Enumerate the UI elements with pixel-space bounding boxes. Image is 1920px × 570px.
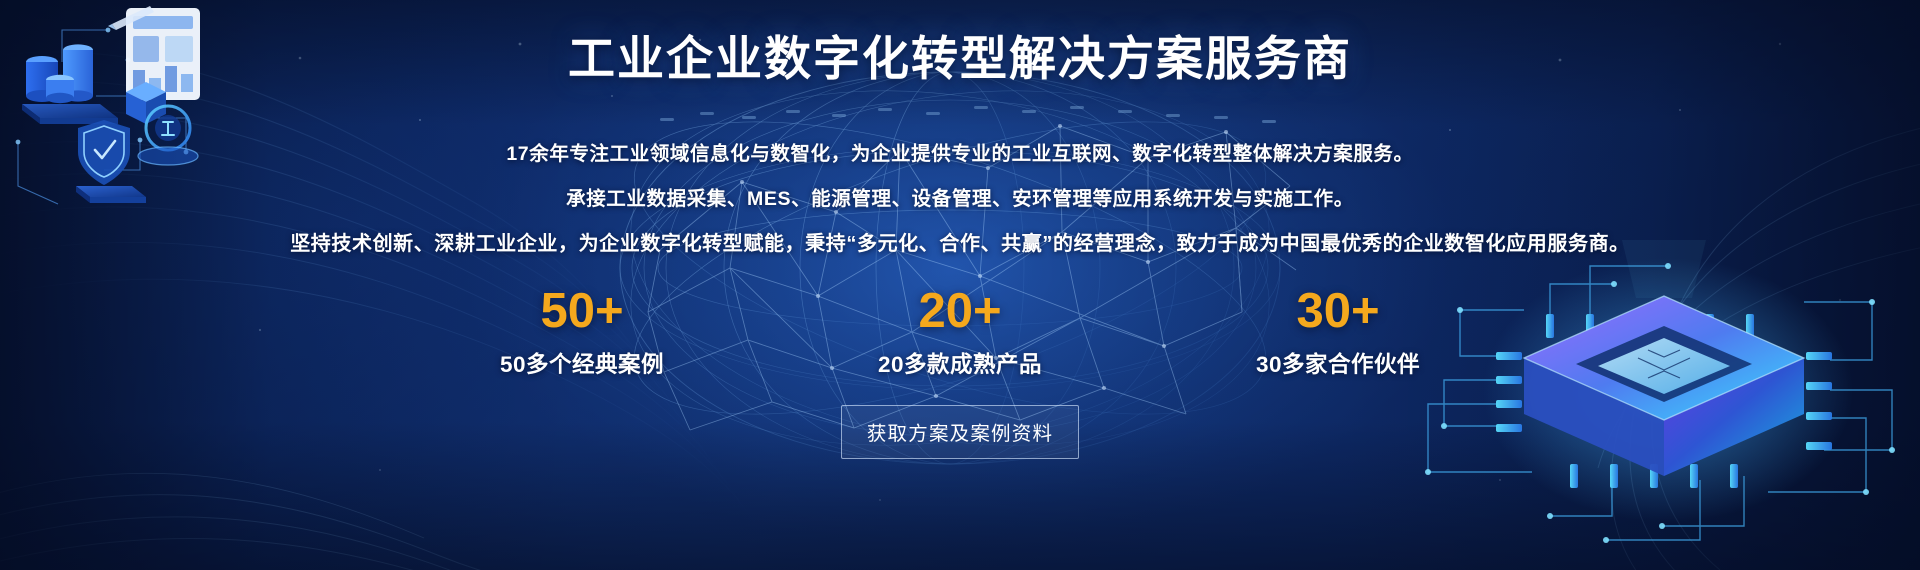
stat-label: 20多款成熟产品: [846, 347, 1074, 379]
subtitle-line-1: 17余年专注工业领域信息化与数智化，为企业提供专业的工业互联网、数字化转型整体解…: [506, 137, 1413, 166]
stats-row: 50+ 50多个经典案例 20+ 20多款成熟产品 30+ 30多家合作伙伴: [468, 287, 1452, 379]
stat-label: 30多家合作伙伴: [1224, 347, 1452, 379]
stat-item-products: 20+ 20多款成熟产品: [846, 287, 1074, 379]
page-title: 工业企业数字化转型解决方案服务商: [568, 34, 1352, 85]
hero-banner: 工业企业数字化转型解决方案服务商 17余年专注工业领域信息化与数智化，为企业提供…: [0, 0, 1920, 570]
stat-value: 50+: [468, 287, 696, 336]
stat-label: 50多个经典案例: [468, 347, 696, 379]
stat-value: 30+: [1224, 287, 1452, 336]
subtitle-line-2: 承接工业数据采集、MES、能源管理、设备管理、安环管理等应用系统开发与实施工作。: [566, 182, 1354, 211]
stat-item-cases: 50+ 50多个经典案例: [468, 287, 696, 379]
stat-item-partners: 30+ 30多家合作伙伴: [1224, 287, 1452, 379]
stat-value: 20+: [846, 287, 1074, 336]
subtitle-line-3: 坚持技术创新、深耕工业企业，为企业数字化转型赋能，秉持“多元化、合作、共赢”的经…: [290, 227, 1630, 256]
banner-content: 工业企业数字化转型解决方案服务商 17余年专注工业领域信息化与数智化，为企业提供…: [0, 0, 1920, 570]
get-materials-button[interactable]: 获取方案及案例资料: [841, 405, 1079, 459]
